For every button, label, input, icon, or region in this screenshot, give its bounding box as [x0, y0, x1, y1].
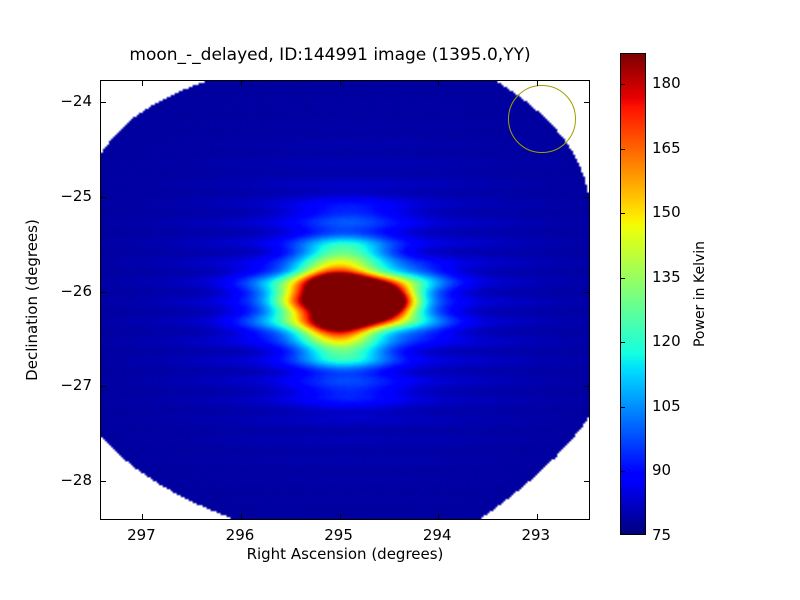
y-tick-mark	[101, 481, 106, 482]
colorbar-label: Power in Kelvin	[692, 241, 708, 347]
y-tick-mark	[584, 386, 589, 387]
y-tick-mark	[101, 102, 106, 103]
colorbar-gradient	[621, 54, 645, 534]
y-tick-label: −28	[52, 471, 92, 489]
colorbar-tick-label: 165	[652, 139, 681, 157]
x-tick-mark	[142, 81, 143, 86]
colorbar-tick-mark	[621, 407, 625, 408]
y-tick-mark	[101, 197, 106, 198]
figure-canvas: moon_-_delayed, ID:144991 image (1395.0,…	[0, 0, 800, 600]
x-tick-mark	[340, 514, 341, 519]
y-tick-label: −24	[52, 92, 92, 110]
x-tick-mark	[438, 81, 439, 86]
image-axes[interactable]	[100, 80, 590, 520]
colorbar-tick-mark	[621, 149, 625, 150]
colorbar-tick-label: 120	[652, 332, 681, 350]
colorbar-tick-label: 150	[652, 203, 681, 221]
y-tick-mark	[584, 481, 589, 482]
y-tick-label: −27	[52, 376, 92, 394]
colorbar-tick-mark	[621, 84, 625, 85]
colorbar-tick-mark	[621, 278, 625, 279]
x-axis-label: Right Ascension (degrees)	[100, 545, 590, 563]
colorbar-tick-mark	[621, 471, 625, 472]
x-tick-label: 293	[521, 526, 550, 544]
colorbar-tick-label: 135	[652, 268, 681, 286]
y-tick-mark	[101, 292, 106, 293]
y-tick-mark	[101, 386, 106, 387]
x-tick-label: 297	[127, 526, 156, 544]
colorbar-tick-label: 105	[652, 397, 681, 415]
y-tick-label: −25	[52, 187, 92, 205]
x-tick-mark	[241, 514, 242, 519]
colorbar-tick-mark	[621, 213, 625, 214]
y-tick-mark	[584, 292, 589, 293]
y-tick-mark	[584, 102, 589, 103]
x-tick-mark	[340, 81, 341, 86]
x-tick-label: 294	[423, 526, 452, 544]
x-tick-mark	[241, 81, 242, 86]
x-tick-label: 295	[324, 526, 353, 544]
x-tick-mark	[537, 514, 538, 519]
y-axis-label: Declination (degrees)	[23, 219, 41, 381]
colorbar-tick-label: 180	[652, 74, 681, 92]
x-tick-label: 296	[226, 526, 255, 544]
colorbar-tick-mark	[621, 342, 625, 343]
heatmap-canvas	[101, 81, 589, 519]
y-tick-label: −26	[52, 282, 92, 300]
y-tick-mark	[584, 197, 589, 198]
x-tick-mark	[438, 514, 439, 519]
plot-title: moon_-_delayed, ID:144991 image (1395.0,…	[0, 45, 660, 65]
x-tick-mark	[537, 81, 538, 86]
colorbar-tick-label: 90	[652, 461, 671, 479]
heatmap-image	[101, 81, 589, 519]
x-tick-mark	[142, 514, 143, 519]
colorbar-tick-label: 75	[652, 526, 671, 544]
colorbar[interactable]	[620, 53, 646, 535]
